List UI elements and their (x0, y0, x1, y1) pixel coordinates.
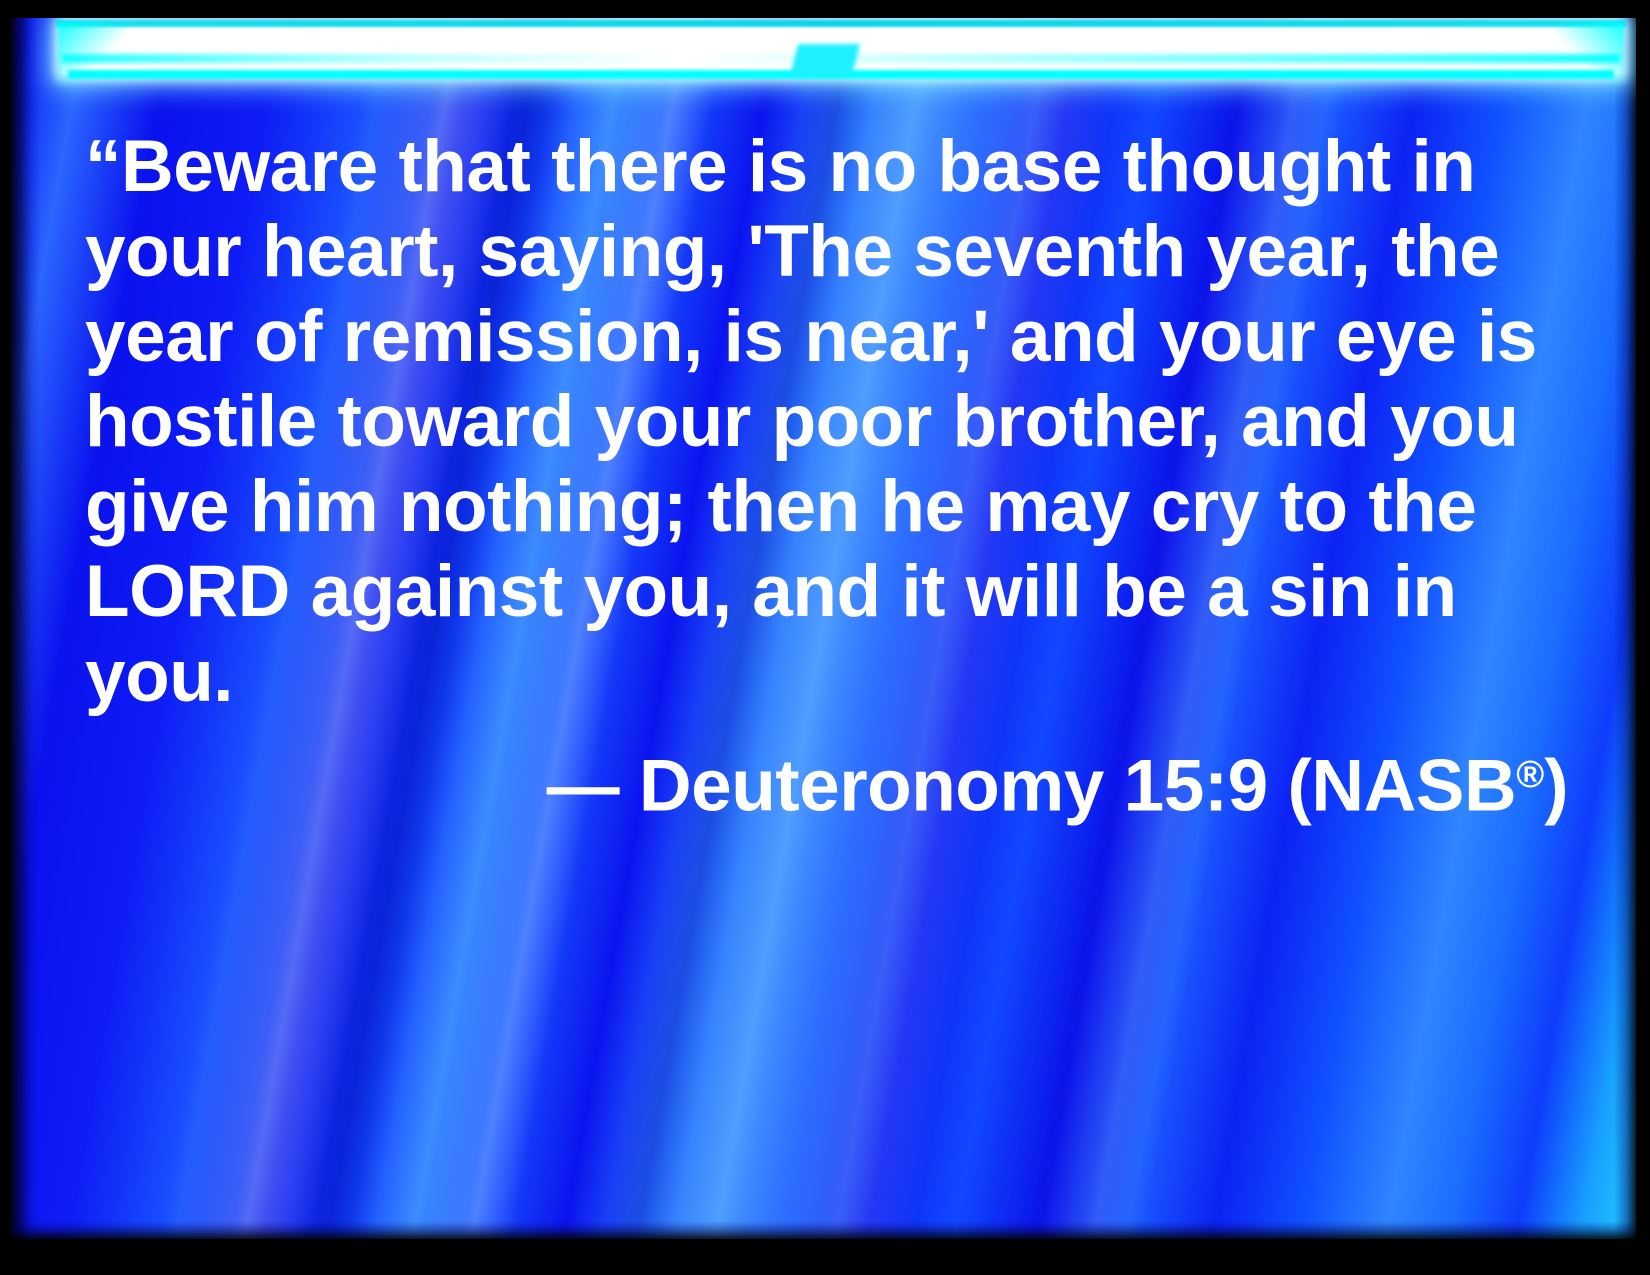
verse-attribution: — Deuteronomy 15:9 (NASB®) (85, 733, 1586, 829)
verse-text: “Beware that there is no base thought in… (85, 124, 1586, 719)
verse-image-canvas: “Beware that there is no base thought in… (0, 0, 1650, 1275)
attribution-suffix: ) (1544, 746, 1568, 827)
attribution-prefix: — Deuteronomy 15:9 (NASB (547, 746, 1517, 827)
slide-surface: “Beware that there is no base thought in… (10, 18, 1636, 1239)
verse-block: “Beware that there is no base thought in… (85, 124, 1586, 829)
registered-trademark-icon: ® (1516, 754, 1544, 796)
